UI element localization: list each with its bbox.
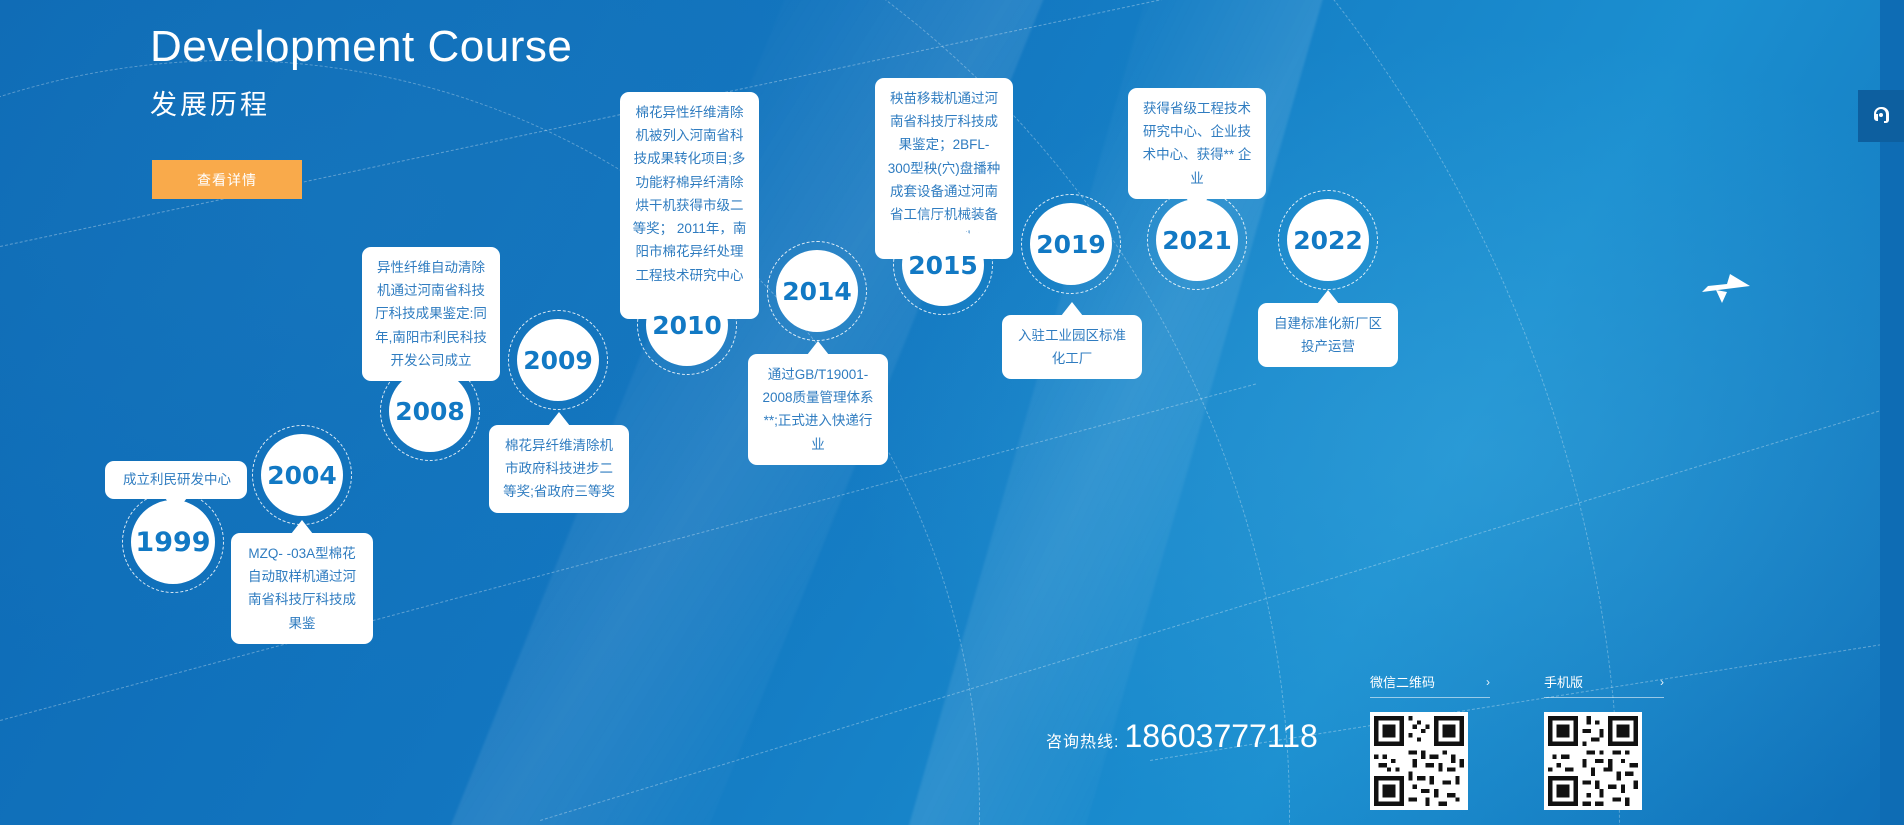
page-heading: Development Course 发展历程 — [150, 22, 572, 122]
timeline-bubble-2004[interactable]: MZQ- -03A型棉花自动取样机通过河南省科技厅科技成果鉴 — [231, 533, 373, 644]
hotline: 咨询热线: 18603777118 — [1046, 718, 1318, 755]
timeline-node-2014[interactable]: 2014 — [776, 250, 858, 332]
hotline-label: 咨询热线: — [1046, 728, 1119, 752]
timeline-bubble-2009[interactable]: 棉花异纤维清除机市政府科技进步二等奖;省政府三等奖 — [489, 425, 629, 513]
timeline-node-year: 2022 — [1293, 226, 1363, 255]
headset-service-icon — [1869, 104, 1893, 128]
customer-service-button[interactable] — [1858, 90, 1904, 142]
hotline-number[interactable]: 18603777118 — [1124, 718, 1317, 755]
timeline-bubble-2022[interactable]: 自建标准化新厂区投产运营 — [1258, 303, 1398, 367]
timeline-node-1999[interactable]: 1999 — [131, 500, 215, 584]
timeline-node-year: 1999 — [135, 527, 210, 558]
page-title-cn: 发展历程 — [150, 83, 572, 122]
qr-item-label: 微信二维码 — [1370, 672, 1435, 691]
timeline-bubble-text: 获得省级工程技术研究中心、企业技术中心、获得** 企业 — [1143, 101, 1252, 186]
page-title-en: Development Course — [150, 22, 572, 73]
timeline-node-year: 2021 — [1162, 226, 1232, 255]
timeline-node-year: 2004 — [267, 461, 337, 490]
timeline-bubble-text: 棉花异纤维清除机市政府科技进步二等奖;省政府三等奖 — [503, 438, 615, 499]
plane-icon — [1700, 272, 1754, 306]
timeline-bubble-2021[interactable]: 获得省级工程技术研究中心、企业技术中心、获得** 企业 — [1128, 88, 1266, 199]
timeline-node-2008[interactable]: 2008 — [389, 370, 471, 452]
page-root: Development Course 发展历程 查看详情 成立利民研发中心 19… — [0, 0, 1904, 825]
timeline-node-2010[interactable]: 2010 — [646, 284, 728, 366]
qr-code-image-wechat — [1370, 712, 1468, 810]
qr-code-image-mobile — [1544, 712, 1642, 810]
timeline-bubble-2014[interactable]: 通过GB/T19001-2008质量管理体系**;正式进入快递行业 — [748, 354, 888, 465]
timeline-node-year: 2008 — [395, 397, 465, 426]
qr-item-wechat[interactable]: 微信二维码 › — [1370, 672, 1490, 810]
decorative-ray — [540, 411, 1879, 821]
chevron-right-icon: › — [1486, 675, 1490, 689]
timeline-node-year: 2015 — [908, 251, 978, 280]
timeline-bubble-text: 异性纤维自动清除机通过河南省科技厅科技成果鉴定:同年,南阳市利民科技开发公司成立 — [375, 260, 487, 368]
timeline-node-2021[interactable]: 2021 — [1156, 199, 1238, 281]
timeline-bubble-2019[interactable]: 入驻工业园区标准化工厂 — [1002, 315, 1142, 379]
timeline-node-year: 2014 — [782, 277, 852, 306]
qr-code-glyph — [1548, 716, 1638, 806]
plane-marker — [1700, 272, 1754, 311]
timeline-bubble-text: MZQ- -03A型棉花自动取样机通过河南省科技厅科技成果鉴 — [248, 546, 356, 631]
timeline-node-year: 2010 — [652, 311, 722, 340]
qr-item-mobile[interactable]: 手机版 › — [1544, 672, 1664, 810]
qr-code-glyph — [1374, 716, 1464, 806]
chevron-right-icon: › — [1660, 675, 1664, 689]
timeline-node-2022[interactable]: 2022 — [1287, 199, 1369, 281]
timeline-node-2009[interactable]: 2009 — [517, 319, 599, 401]
timeline-node-2019[interactable]: 2019 — [1030, 203, 1112, 285]
qr-item-header[interactable]: 手机版 › — [1544, 672, 1664, 698]
timeline-bubble-text: 入驻工业园区标准化工厂 — [1018, 328, 1126, 366]
timeline-node-2015[interactable]: 2015 — [902, 224, 984, 306]
timeline-node-year: 2009 — [523, 346, 593, 375]
timeline-bubble-text: 成立利民研发中心 — [123, 472, 231, 487]
qr-item-header[interactable]: 微信二维码 › — [1370, 672, 1490, 698]
timeline-bubble-text: 通过GB/T19001-2008质量管理体系**;正式进入快递行业 — [762, 367, 873, 452]
timeline-node-2004[interactable]: 2004 — [261, 434, 343, 516]
qr-item-label: 手机版 — [1544, 672, 1583, 691]
qr-code-group: 微信二维码 › — [1370, 672, 1664, 810]
timeline-bubble-text: 自建标准化新厂区投产运营 — [1274, 316, 1382, 354]
view-detail-button[interactable]: 查看详情 — [152, 160, 302, 199]
timeline-node-year: 2019 — [1036, 230, 1106, 259]
